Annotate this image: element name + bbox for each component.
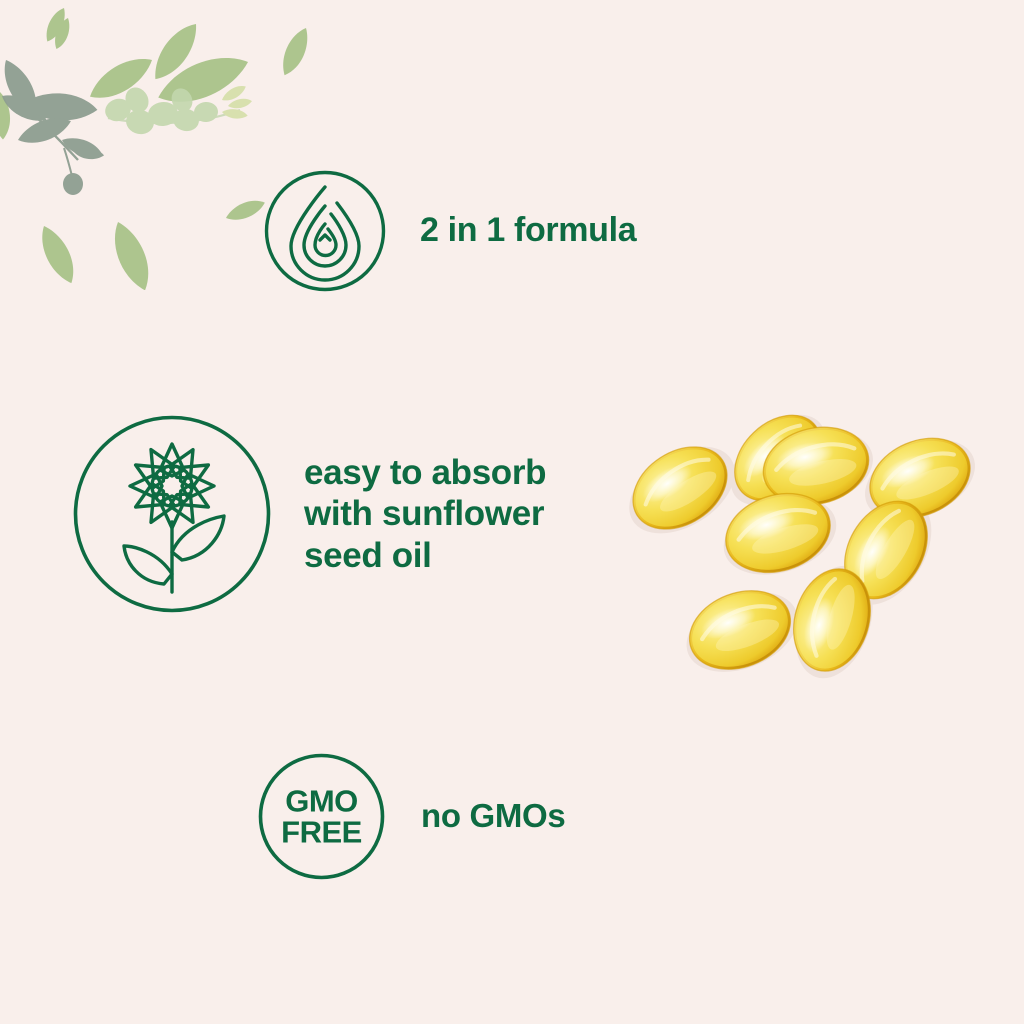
gmo-free-icon: GMO FREE bbox=[258, 753, 385, 880]
feature-row-formula: 2 in 1 formula bbox=[264, 170, 636, 292]
gmo-free-badge-text: GMO FREE bbox=[281, 785, 362, 848]
capsule bbox=[678, 577, 802, 683]
water-drop-spiral-icon bbox=[264, 170, 386, 292]
sunflower-icon bbox=[72, 414, 272, 614]
softgel-capsules bbox=[620, 340, 1010, 690]
feature-row-absorb: easy to absorb with sunflower seed oil bbox=[72, 414, 546, 614]
feature-label-formula: 2 in 1 formula bbox=[420, 212, 636, 249]
feature-label-absorb: easy to absorb with sunflower seed oil bbox=[304, 452, 546, 576]
infographic-canvas: 2 in 1 formula bbox=[0, 0, 1024, 1024]
feature-label-gmo: no GMOs bbox=[421, 798, 565, 834]
feature-row-gmo: GMO FREE no GMOs bbox=[258, 753, 565, 880]
